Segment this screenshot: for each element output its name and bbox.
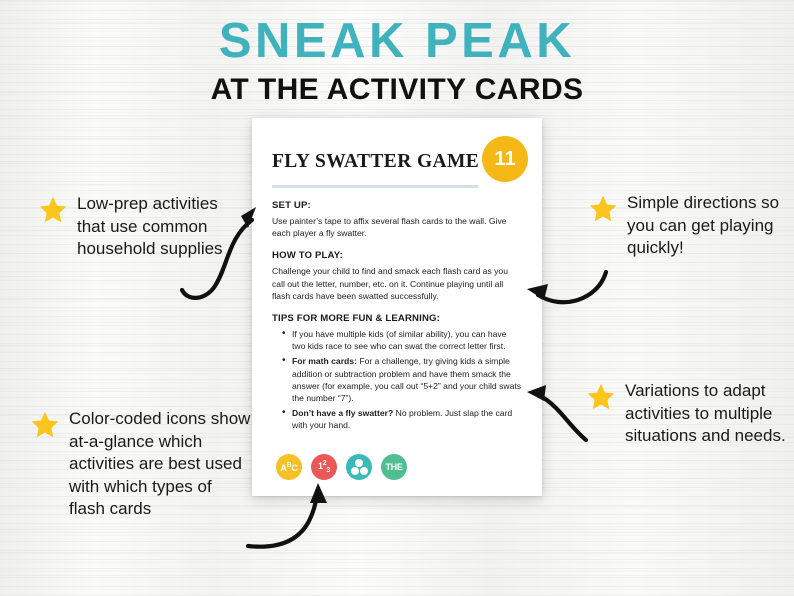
how-to-play-body: Challenge your child to find and smack e… [272,265,522,302]
star-icon [30,410,60,440]
annotation-simple-directions-text: Simple directions so you can get playing… [627,192,788,260]
annotation-variations-text: Variations to adapt activities to multip… [625,380,786,448]
the-icon-label: THE [385,462,402,472]
tips-list: If you have multiple kids (of similar ab… [272,328,522,432]
how-to-play-heading: HOW TO PLAY: [272,250,522,261]
annotation-color-coded: Color-coded icons show at-a-glance which… [30,408,252,521]
shape-dot-right [360,467,368,475]
tips-heading: TIPS FOR MORE FUN & LEARNING: [272,313,522,324]
star-icon [38,195,68,225]
tip-bold: For math cards: [292,356,357,366]
shapes-icon [346,454,372,480]
page-subtitle: AT THE ACTIVITY CARDS [0,72,794,108]
activity-card: FLY SWATTER GAME 11 SET UP: Use painter’… [252,118,542,496]
abc-icon: ABC [276,454,302,480]
card-number-badge: 11 [482,136,528,182]
shape-dot-left [351,467,359,475]
page-header: SNEAK PEAK AT THE ACTIVITY CARDS [0,16,794,108]
setup-heading: SET UP: [272,200,522,211]
card-title-divider [272,185,478,188]
star-icon [586,382,616,412]
star-icon [588,194,618,224]
abc-icon-label: ABC [280,462,297,473]
annotation-variations: Variations to adapt activities to multip… [586,380,786,448]
shape-dot-top [355,459,363,467]
category-icon-row: ABC 123 THE [276,454,407,480]
annotation-simple-directions: Simple directions so you can get playing… [588,192,788,260]
list-item: If you have multiple kids (of similar ab… [284,328,522,352]
tip-text: If you have multiple kids (of similar ab… [292,329,506,351]
page-title: SNEAK PEAK [0,16,794,67]
annotation-low-prep-text: Low-prep activities that use common hous… [77,193,238,261]
annotation-color-coded-text: Color-coded icons show at-a-glance which… [69,408,252,521]
annotation-low-prep: Low-prep activities that use common hous… [38,193,238,261]
list-item: For math cards: For a challenge, try giv… [284,355,522,404]
the-icon: THE [381,454,407,480]
123-icon-label: 123 [318,460,330,474]
list-item: Don’t have a fly swatter? No problem. Ju… [284,407,522,431]
123-icon: 123 [311,454,337,480]
setup-body: Use painter’s tape to affix several flas… [272,215,522,239]
card-header: FLY SWATTER GAME 11 [272,146,522,180]
tip-bold: Don’t have a fly swatter? [292,408,393,418]
